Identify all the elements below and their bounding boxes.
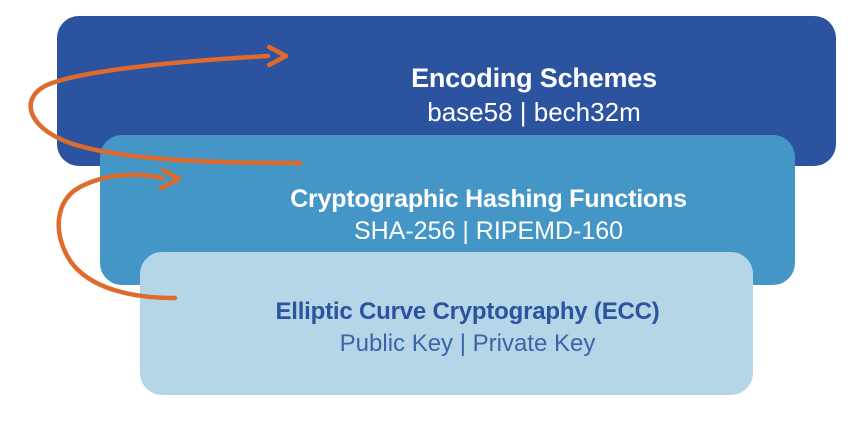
layer-subtitle-elliptic-curve-cryptography: Public Key | Private Key bbox=[340, 331, 596, 356]
layer-title-cryptographic-hashing-functions: Cryptographic Hashing Functions bbox=[290, 186, 687, 212]
cryptography-stack-diagram: Encoding Schemes base58 | bech32m Crypto… bbox=[0, 0, 860, 421]
layer-subtitle-cryptographic-hashing-functions: SHA-256 | RIPEMD-160 bbox=[354, 218, 623, 244]
layer-subtitle-encoding-schemes: base58 | bech32m bbox=[427, 99, 640, 126]
layer-title-elliptic-curve-cryptography: Elliptic Curve Cryptography (ECC) bbox=[275, 299, 659, 324]
layer-card-elliptic-curve-cryptography[interactable]: Elliptic Curve Cryptography (ECC) Public… bbox=[140, 252, 753, 395]
layer-title-encoding-schemes: Encoding Schemes bbox=[411, 64, 657, 92]
